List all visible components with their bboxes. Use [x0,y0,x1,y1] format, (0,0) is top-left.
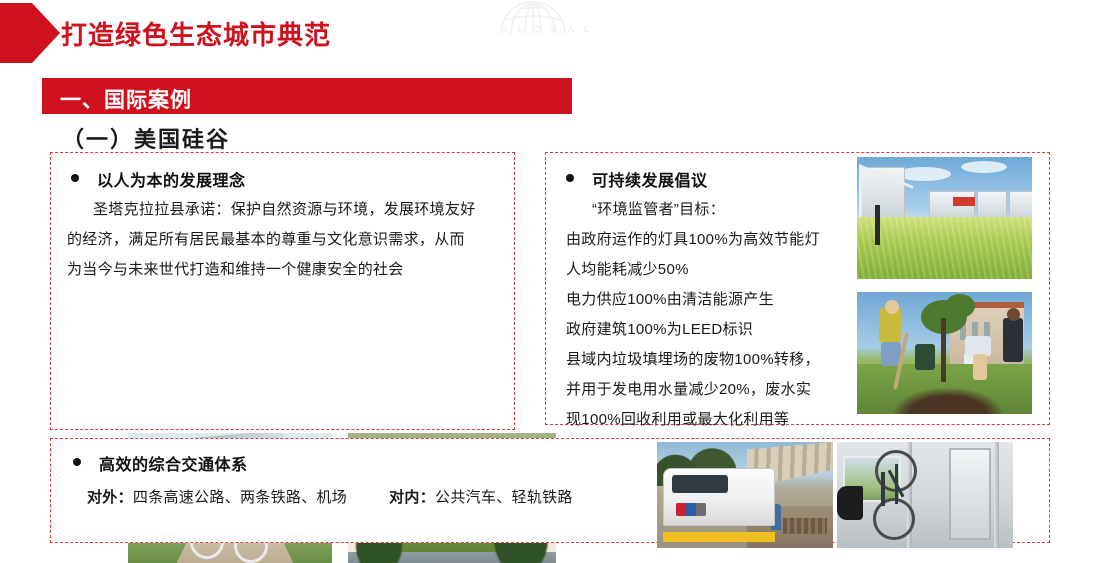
internal-value: 公共汽车、轻轨铁路 [435,489,573,506]
tree-planting-photo [857,292,1032,414]
section-banner: 一、国际案例 [42,78,572,114]
sub-heading: （一）美国硅谷 [62,122,230,154]
external-value: 四条高速公路、两条铁路、机场 [133,489,347,506]
left-bullet-title: 以人为本的发展理念 [97,167,246,191]
external-label: 对外： [87,489,133,506]
right-line-2: 人均能耗减少50% [566,255,866,285]
right-bullet-title: 可持续发展倡议 [592,167,708,191]
bike-on-transit-photo [837,442,1013,548]
right-line-5: 县域内垃圾填埋场的废物100%转移， [566,345,866,375]
right-bullet-row: 可持续发展倡议 [566,167,708,191]
right-line-4: 政府建筑100%为LEED标识 [566,315,866,345]
left-bullet-row: 以人为本的发展理念 [71,167,246,191]
left-paragraph-line-3: 为当今与未来世代打造和维持一个健康安全的社会 [67,255,499,285]
page-title: 打造绿色生态城市典范 [61,15,331,52]
left-paragraph-line-2: 的经济，满足所有居民最基本的尊重与文化意识需求，从而 [67,225,499,255]
left-paragraph: 圣塔克拉拉县承诺：保护自然资源与环境，发展环境友好 的经济，满足所有居民最基本的… [67,195,499,285]
light-rail-photo [657,442,833,548]
bullet-dot-icon [73,458,81,466]
bottom-transport-detail: 对外：四条高速公路、两条铁路、机场对内：公共汽车、轻轨铁路 [87,483,573,513]
right-line-1: 由政府运作的灯具100%为高效节能灯 [566,225,866,255]
left-paragraph-line-1: 圣塔克拉拉县承诺：保护自然资源与环境，发展环境友好 [67,195,499,225]
watermark-label: G L O B A L [500,24,594,34]
panel-human-centered: 以人为本的发展理念 圣塔克拉拉县承诺：保护自然资源与环境，发展环境友好 的经济，… [50,152,515,430]
slide-root: 打造绿色生态城市典范 G L O B A L 一、国际案例 （一）美国硅谷 以人… [0,0,1103,563]
bullet-dot-icon [71,174,79,182]
bottom-bullet-row: 高效的综合交通体系 [73,451,248,475]
section-banner-label: 一、国际案例 [60,84,192,114]
right-line-3: 电力供应100%由清洁能源产生 [566,285,866,315]
right-line-6: 并用于发电用水量减少20%，废水实 [566,375,866,405]
internal-label: 对内： [389,489,435,506]
right-line-7: 现100%回收利用或最大化利用等 [566,405,866,435]
bullet-dot-icon [566,174,574,182]
bottom-bullet-title: 高效的综合交通体系 [99,451,248,475]
right-paragraph: “环境监管者”目标： 由政府运作的灯具100%为高效节能灯 人均能耗减少50% … [566,195,866,435]
title-arrow-marker [0,3,60,63]
green-roof-photo [857,157,1032,279]
right-line-0: “环境监管者”目标： [566,195,866,225]
